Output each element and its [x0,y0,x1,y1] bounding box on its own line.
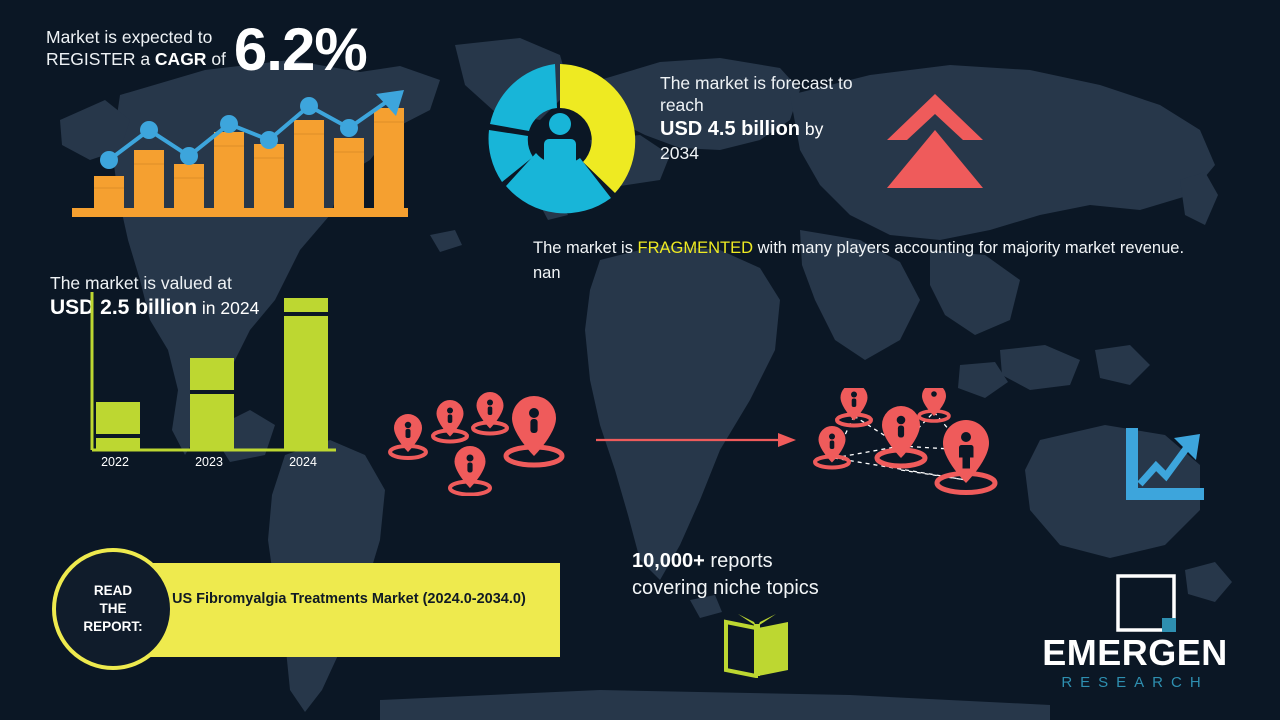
fragmented-pre: The market is [533,239,638,257]
growth-chart-icon [1122,428,1204,504]
map-pin-person-icon [390,414,426,458]
read-report-badge[interactable]: READ THE REPORT: [52,548,174,670]
green-bar-label-2023: 2023 [179,455,239,469]
infographic-canvas: Market is expected to REGISTER a CAGR of… [0,0,1280,720]
cagr-line-1: Market is expected to [46,26,226,48]
reports-count-line-2: covering niche topics [632,575,932,602]
map-pin-person-icon [506,396,562,465]
donut-slice-cyan-3 [490,64,557,131]
green-bar-2024 [284,298,328,450]
right-arrow-icon [596,432,796,448]
reports-count-value: 10,000+ [632,550,705,572]
double-up-arrow-icon [885,92,985,192]
green-bar-2023 [190,358,234,450]
forecast-value: USD 4.5 billion [660,118,800,140]
forecast-lead: The market is forecast to reach [660,72,890,116]
badge-line-2: THE [83,600,142,618]
orange-growth-chart [72,88,408,220]
map-pin-cluster-networked [806,388,1004,500]
green-bar-label-2024: 2024 [273,455,333,469]
infographic-content: Market is expected to REGISTER a CAGR of… [0,0,1280,720]
reports-count-line-1: 10,000+ reports [632,548,932,575]
forecast-block: The market is forecast to reach USD 4.5 … [660,72,890,164]
report-title: US Fibromyalgia Treatments Market (2024.… [172,585,552,613]
market-share-donut [470,52,650,230]
map-pin-person-icon [919,388,949,421]
forecast-by: by [800,119,823,139]
map-pin-person-icon [450,446,490,495]
cagr-line-2: REGISTER a CAGR of [46,48,226,70]
fragmented-statement: The market is FRAGMENTED with many playe… [533,236,1213,286]
fragmented-highlight: FRAGMENTED [638,239,754,257]
emergen-research-logo: EMERGEN RESEARCH [1010,572,1260,702]
map-pin-cluster-scattered [382,388,578,496]
read-report-badge-label: READ THE REPORT: [83,582,142,636]
open-book-icon [718,612,796,678]
logo-subtitle: RESEARCH [1010,674,1260,692]
map-pin-person-icon [815,426,849,468]
green-bar-2022 [96,402,140,450]
logo-wordmark: EMERGEN [1010,634,1260,672]
chart-baseline [72,208,408,217]
valued-lead: The market is valued at [50,272,390,294]
logo-mark [1010,572,1260,634]
map-pin-person-icon [433,400,467,442]
map-pin-person-icon [937,420,995,493]
badge-line-3: REPORT: [83,618,142,636]
map-pin-person-icon [473,392,507,434]
cagr-block: Market is expected to REGISTER a CAGR of… [46,20,466,80]
market-value-bar-chart [78,292,336,472]
forecast-value-row: USD 4.5 billion by [660,116,890,142]
green-bar-label-2022: 2022 [85,455,145,469]
reports-count-suffix: reports [705,550,773,572]
badge-line-1: READ [83,582,142,600]
forecast-year: 2034 [660,142,890,164]
forecast-lead-line-2: reach [660,94,890,116]
map-pin-person-icon [837,388,871,426]
cagr-value: 6.2% [234,20,367,80]
reports-count-block: 10,000+ reports covering niche topics [632,548,932,602]
cagr-label: Market is expected to REGISTER a CAGR of [46,20,226,70]
cagr-bold-word: CAGR [155,49,207,69]
forecast-lead-line-1: The market is forecast to [660,72,890,94]
